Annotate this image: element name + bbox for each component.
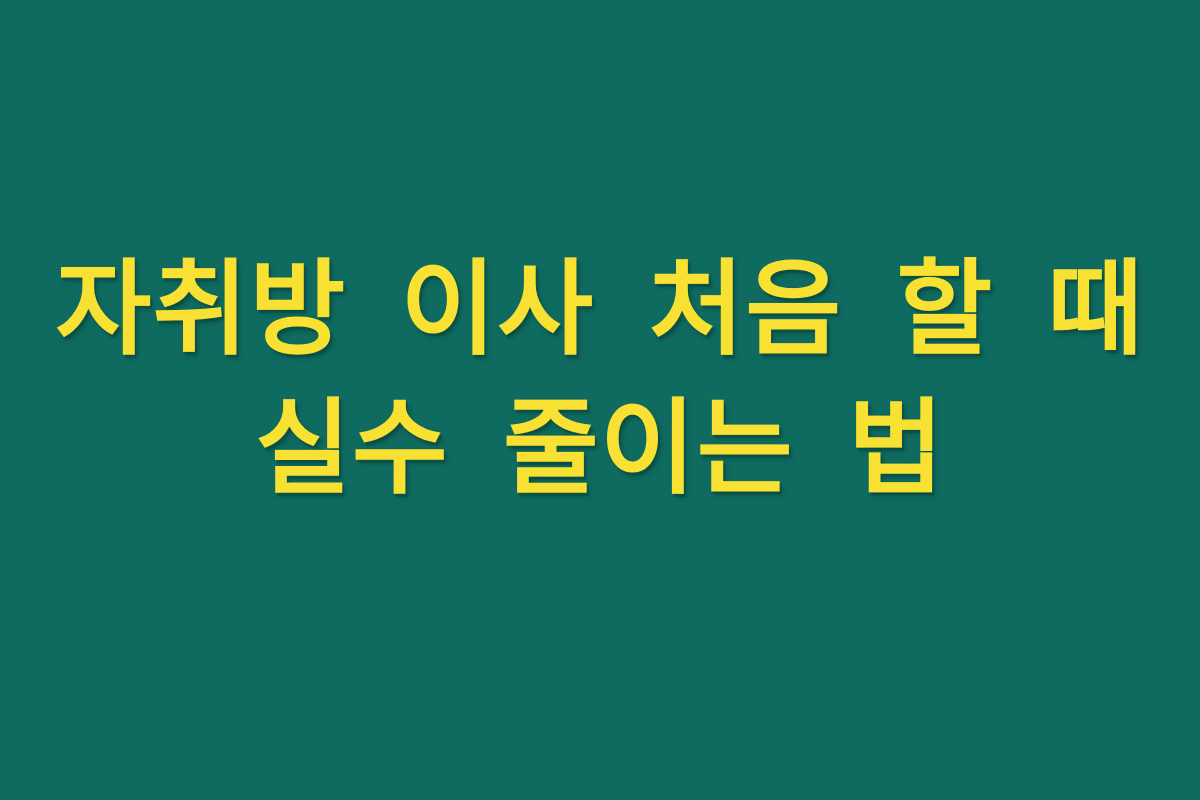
title-line-1: 자취방 이사 처음 할 때 bbox=[40, 241, 1160, 378]
title-text-block: 자취방 이사 처음 할 때 실수 줄이는 법 bbox=[0, 241, 1200, 517]
title-line-2: 실수 줄이는 법 bbox=[40, 380, 1160, 517]
title-card-canvas: 자취방 이사 처음 할 때 실수 줄이는 법 bbox=[0, 0, 1200, 800]
